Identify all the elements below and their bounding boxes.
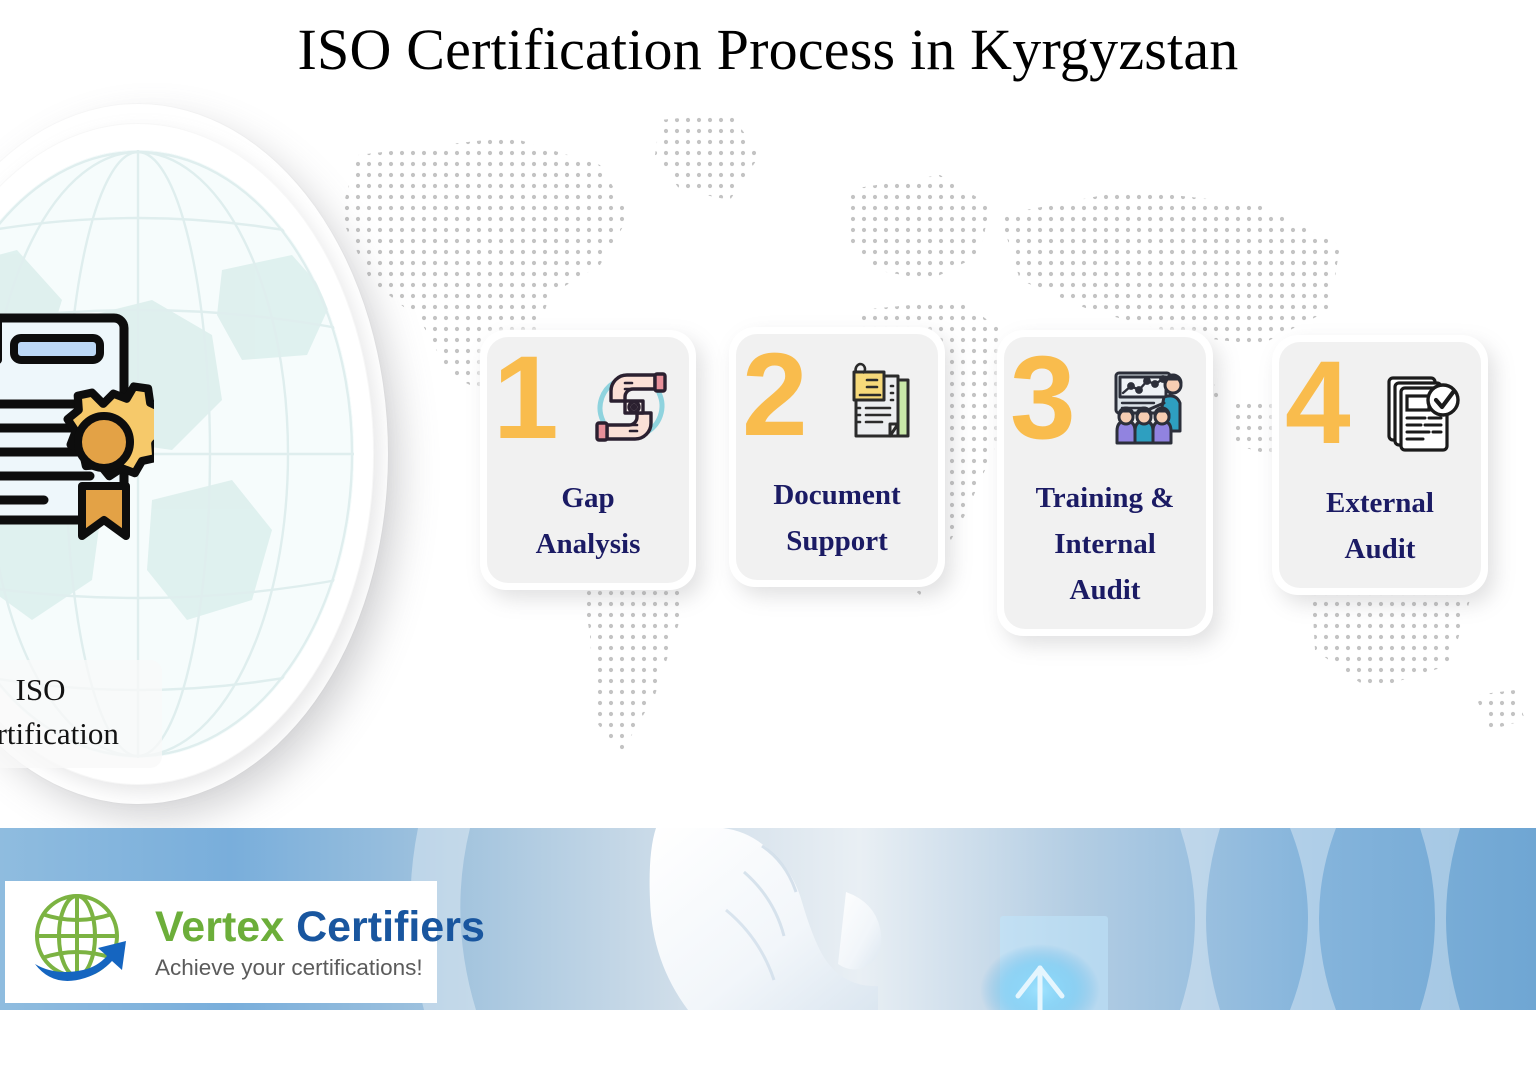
step-4-label-line1: External	[1285, 480, 1475, 526]
step-card-3-top: 3	[1004, 337, 1206, 475]
iso-certification-badge: ISO Certification	[0, 104, 398, 804]
step-3-label-line2: Internal	[1010, 521, 1200, 567]
step-card-2-label: Document Support	[736, 472, 938, 564]
iso-certification-label: ISO Certification	[0, 660, 162, 768]
step-card-4-top: 4	[1279, 342, 1481, 480]
step-1-label-line1: Gap	[493, 475, 683, 521]
step-card-1-top: 1	[487, 337, 689, 475]
step-card-1-label: Gap Analysis	[487, 475, 689, 567]
brand-name: Vertex Certifiers	[155, 902, 485, 952]
step-card-2[interactable]: 2	[729, 327, 945, 587]
documents-checkmark-icon	[1377, 366, 1469, 458]
step-1-label-line2: Analysis	[493, 521, 683, 567]
step-card-1[interactable]: 1	[480, 330, 696, 590]
step-number-4: 4	[1285, 344, 1347, 462]
step-number-1: 1	[493, 339, 555, 457]
infographic-canvas: ISO Certification Process in Kyrgyzstan	[0, 0, 1536, 1086]
certificate-seal-icon	[0, 304, 154, 544]
step-card-4-label: External Audit	[1279, 480, 1481, 572]
step-card-1-inner: 1	[487, 337, 689, 583]
step-card-4-inner: 4	[1279, 342, 1481, 588]
iso-label-line2: Certification	[0, 712, 162, 756]
step-4-label-line2: Audit	[1285, 526, 1475, 572]
brand-tagline: Achieve your certifications!	[155, 953, 485, 983]
company-logo[interactable]: Vertex Certifiers Achieve your certifica…	[5, 881, 437, 1003]
documents-note-icon	[834, 358, 926, 450]
page-title: ISO Certification Process in Kyrgyzstan	[0, 16, 1536, 83]
step-card-2-inner: 2	[736, 334, 938, 580]
step-card-3-label: Training & Internal Audit	[1004, 475, 1206, 613]
step-3-label-line3: Audit	[1010, 567, 1200, 613]
step-card-2-top: 2	[736, 334, 938, 472]
brand-name-first: Vertex	[155, 903, 284, 951]
brand-name-second: Certifiers	[296, 903, 485, 951]
step-card-3[interactable]: 3	[997, 330, 1213, 636]
step-2-label-line2: Support	[742, 518, 932, 564]
step-card-3-inner: 3	[1004, 337, 1206, 629]
step-number-2: 2	[742, 336, 804, 454]
iso-label-line1: ISO	[0, 668, 162, 712]
training-presentation-icon	[1102, 361, 1194, 453]
globe-arrow-logo-icon	[19, 890, 151, 994]
logo-text-block: Vertex Certifiers Achieve your certifica…	[155, 902, 485, 983]
step-2-label-line1: Document	[742, 472, 932, 518]
step-3-label-line1: Training &	[1010, 475, 1200, 521]
step-number-3: 3	[1010, 339, 1072, 457]
handshake-circle-icon	[585, 361, 677, 453]
step-card-4[interactable]: 4	[1272, 335, 1488, 595]
